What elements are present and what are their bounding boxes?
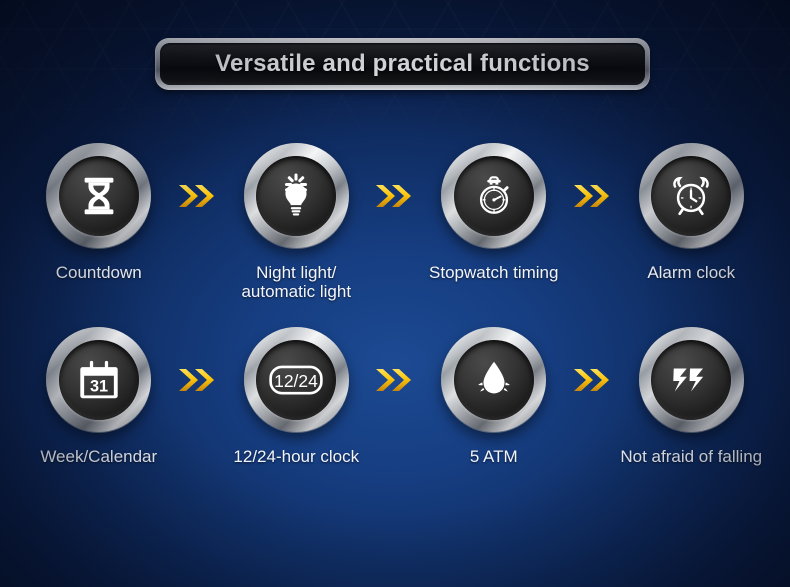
feature-item-countdown[interactable]: Countdown [0, 143, 198, 301]
badge-ring [441, 143, 546, 248]
twelve-24-clock-icon: 12/24 [268, 360, 324, 400]
feature-label: Alarm clock [647, 263, 735, 282]
badge-face [651, 156, 731, 236]
feature-label: Not afraid of falling [620, 447, 762, 466]
calendar-day-number: 31 [90, 377, 108, 395]
badge-ring [441, 327, 546, 432]
feature-item-stopwatch[interactable]: Stopwatch timing [395, 143, 593, 301]
page-title: Versatile and practical functions [215, 50, 590, 78]
badge-face [256, 156, 336, 236]
feature-row-2: 31 Week/Calendar 12/24 [0, 327, 790, 466]
hourglass-icon [76, 173, 122, 219]
feature-item-alarm-clock[interactable]: Alarm clock [593, 143, 790, 301]
badge-face [454, 340, 534, 420]
badge-face [454, 156, 534, 236]
promo-banner-image: Versatile and practical functions Countd… [0, 0, 790, 587]
badge-ring: 12/24 [244, 327, 349, 432]
badge-ring: 31 [46, 327, 151, 432]
badge-ring [639, 143, 744, 248]
badge-ring [639, 327, 744, 432]
lightbulb-icon [273, 173, 319, 219]
feature-item-water-resistance[interactable]: 5 ATM [395, 327, 593, 466]
feature-label: 5 ATM [470, 447, 518, 466]
title-banner-inner: Versatile and practical functions [160, 43, 645, 85]
shock-resistant-icon [668, 357, 714, 403]
feature-item-12-24-clock[interactable]: 12/24 12/24-hour clock [198, 327, 396, 466]
badge-face: 12/24 [256, 340, 336, 420]
feature-item-night-light[interactable]: Night light/ automatic light [198, 143, 396, 301]
feature-row-1: Countdown [0, 143, 790, 301]
badge-ring [244, 143, 349, 248]
feature-label: Stopwatch timing [429, 263, 558, 282]
feature-label: Countdown [56, 263, 142, 282]
stopwatch-icon [471, 173, 517, 219]
title-banner: Versatile and practical functions [155, 38, 650, 90]
clock-format-text: 12/24 [274, 371, 318, 391]
badge-ring [46, 143, 151, 248]
badge-face: 31 [59, 340, 139, 420]
feature-label: Week/Calendar [40, 447, 157, 466]
calendar-icon: 31 [76, 357, 122, 403]
feature-item-calendar[interactable]: 31 Week/Calendar [0, 327, 198, 466]
badge-face [651, 340, 731, 420]
feature-item-shock-resistant[interactable]: Not afraid of falling [593, 327, 790, 466]
water-drop-icon [471, 357, 517, 403]
alarm-clock-icon [668, 173, 714, 219]
feature-label: Night light/ automatic light [241, 263, 351, 301]
feature-label: 12/24-hour clock [233, 447, 359, 466]
badge-face [59, 156, 139, 236]
